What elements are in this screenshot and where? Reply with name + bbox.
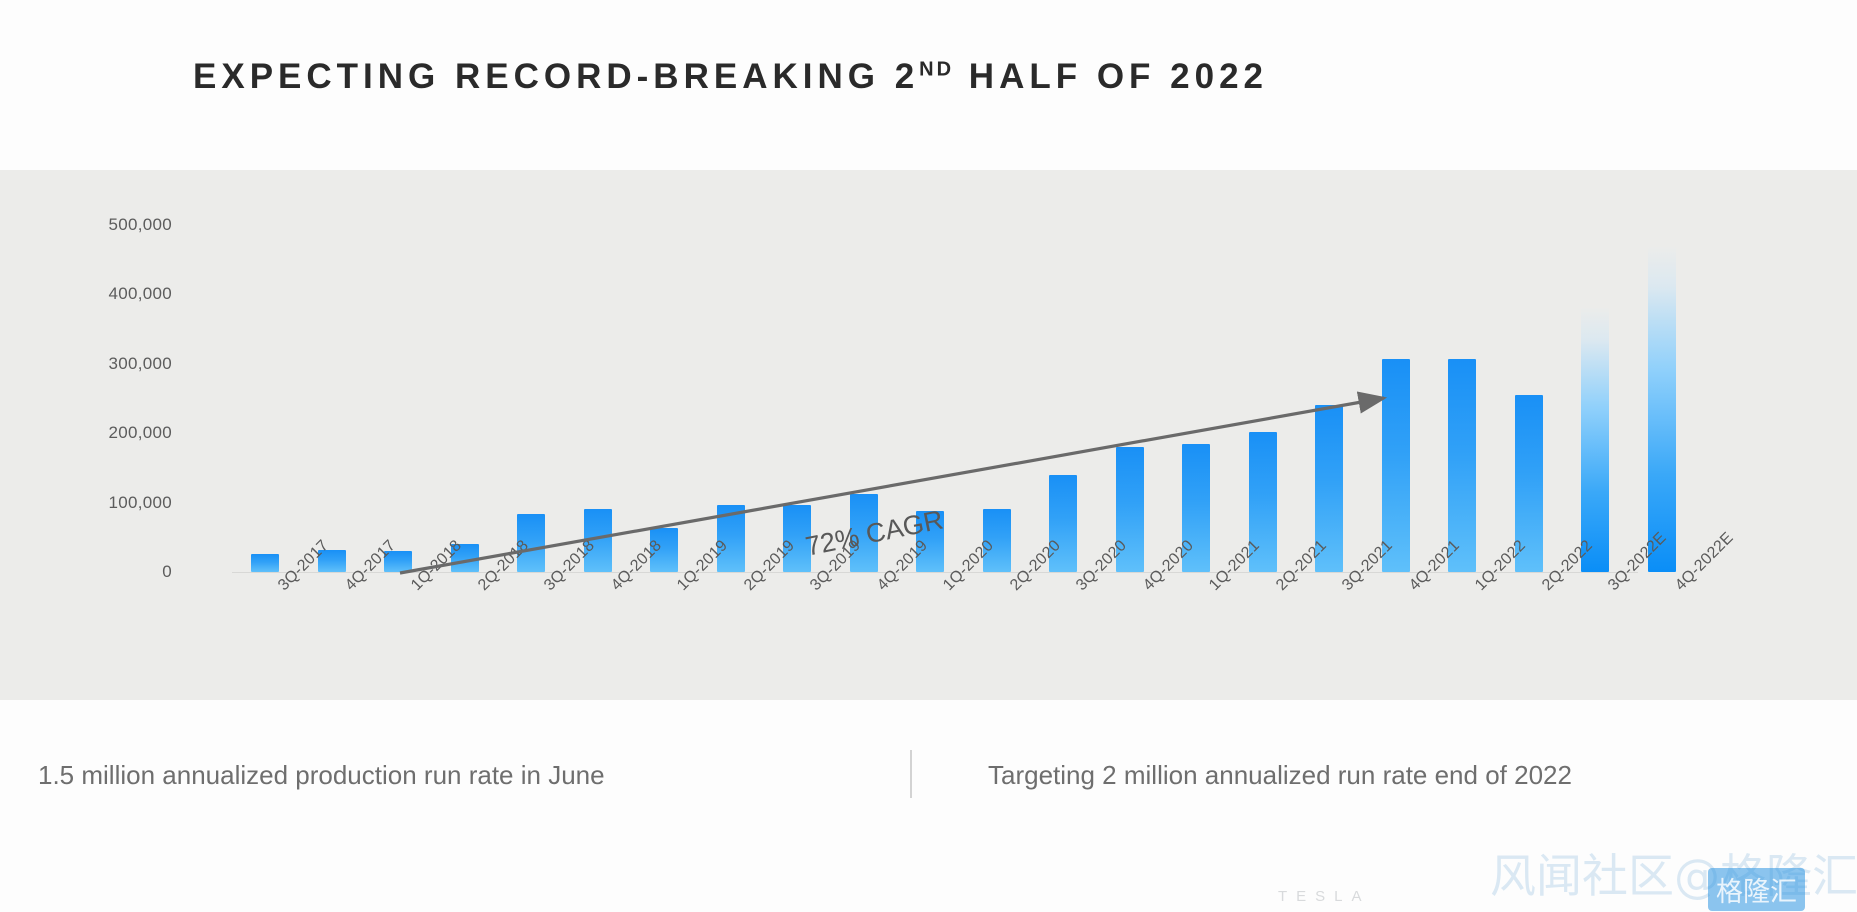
footer-note-right: Targeting 2 million annualized run rate … [988,760,1572,791]
footer-note-left: 1.5 million annualized production run ra… [38,760,605,791]
page-title-ordinal-suffix: ND [919,58,954,80]
x-axis-tick-label: 4Q-2022E [1672,529,1737,594]
bar-3q-2022e [1581,308,1609,572]
y-axis-tick-label: 400,000 [62,284,172,304]
brand-watermark: TESLA [1278,888,1371,905]
plot-area: 0100,000200,000300,000400,000500,000 3Q-… [0,170,1857,700]
footer-band: 1.5 million annualized production run ra… [0,700,1857,912]
page-title-tail: HALF OF 2022 [954,57,1268,96]
footer-divider [910,750,912,798]
y-axis-tick-label: 500,000 [62,215,172,235]
y-axis-tick-label: 100,000 [62,493,172,513]
title-band: EXPECTING RECORD-BREAKING 2ND HALF OF 20… [0,0,1857,170]
y-axis-tick-label: 200,000 [62,423,172,443]
page-title: EXPECTING RECORD-BREAKING 2ND HALF OF 20… [193,57,1268,97]
bar-4q-2022e [1648,247,1676,572]
slide-root: EXPECTING RECORD-BREAKING 2ND HALF OF 20… [0,0,1857,912]
bar-3q-2017 [251,554,279,572]
page-title-main: EXPECTING RECORD-BREAKING 2 [193,57,919,96]
chart-panel: 0100,000200,000300,000400,000500,000 3Q-… [0,170,1857,700]
y-axis-tick-label: 0 [62,562,172,582]
y-axis-tick-label: 300,000 [62,354,172,374]
